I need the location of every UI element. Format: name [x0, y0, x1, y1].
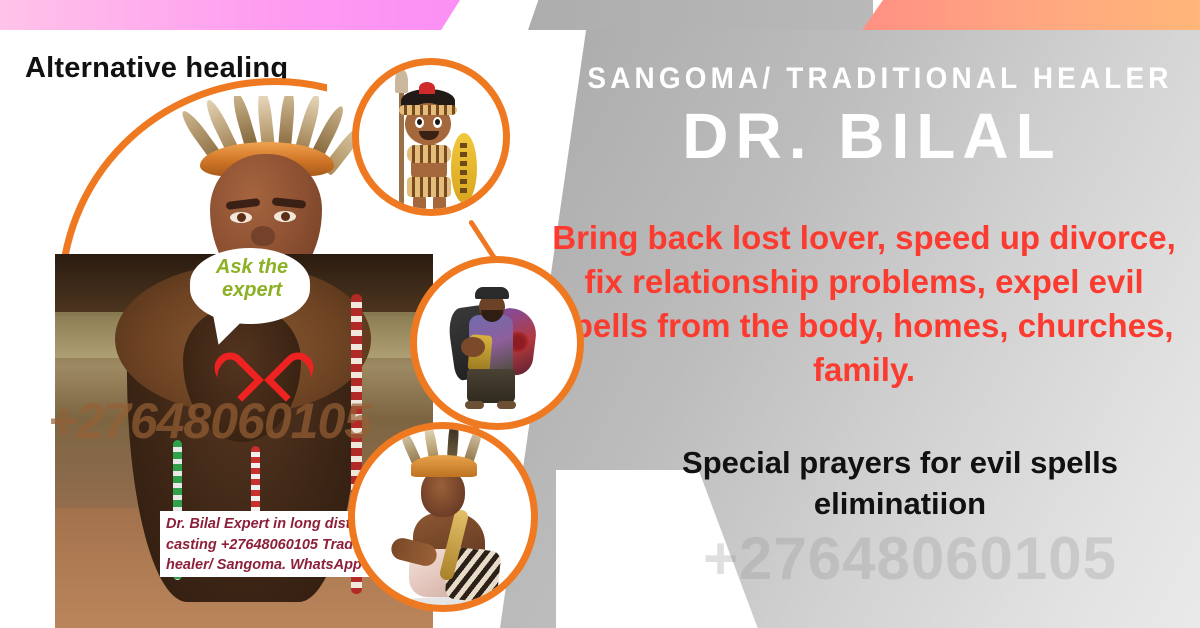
- top-bar-gray: [528, 0, 873, 30]
- warrior-shadow: [403, 215, 461, 216]
- ask-the-expert-text: Ask the expert: [196, 256, 308, 302]
- special-prayers-copy: Special prayers for evil spells eliminat…: [600, 442, 1200, 524]
- top-bar-pink: [0, 0, 460, 30]
- figure-hat: [475, 287, 509, 299]
- portrait-nose: [251, 226, 275, 246]
- circle-traditional-healer-figure: [410, 256, 584, 430]
- crouching-crown: [411, 455, 477, 477]
- circle-cartoon-zulu-warrior: [352, 58, 510, 216]
- kicker-text: SANGOMA/ TRADITIONAL HEALER: [587, 62, 1156, 96]
- feather-icon: [447, 422, 460, 457]
- feather-icon: [422, 422, 438, 460]
- top-bar-orange: [862, 0, 1200, 30]
- warrior-skirt: [407, 177, 451, 197]
- shield-icon: [451, 133, 477, 203]
- figure-foot-right: [497, 401, 516, 409]
- figure-arm: [461, 337, 485, 357]
- warrior-leg-left: [413, 195, 426, 216]
- circle-crouching-warrior-figure: [348, 422, 538, 612]
- phone-watermark-right: +27648060105: [620, 524, 1200, 593]
- warrior-eye-right: [433, 117, 442, 128]
- portrait-eye-right: [274, 211, 296, 222]
- page-title: DR. BILAL: [566, 103, 1178, 170]
- feather-icon: [256, 96, 275, 149]
- poster-canvas: SANGOMA/ TRADITIONAL HEALER DR. BILAL Br…: [0, 0, 1200, 628]
- services-copy: Bring back lost lover, speed up divorce,…: [540, 216, 1188, 392]
- figure-legs: [467, 369, 515, 403]
- warrior-headband: [399, 105, 457, 115]
- feather-icon: [278, 96, 296, 149]
- warrior-chest-band: [407, 145, 451, 163]
- portrait-eye-left: [230, 212, 252, 223]
- warrior-leg-right: [433, 195, 446, 216]
- figure-foot-left: [465, 401, 484, 409]
- warrior-eye-left: [415, 117, 424, 128]
- heart-icon: [233, 332, 295, 388]
